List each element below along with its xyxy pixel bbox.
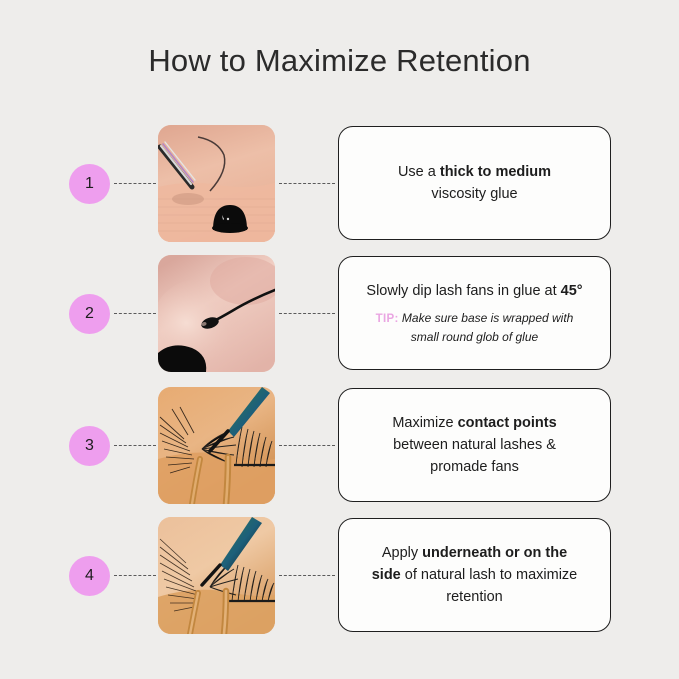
step-number-badge: 4 xyxy=(69,556,110,596)
lash-fan-dipped-in-glue-icon xyxy=(158,255,275,372)
card-tip-line: small round glob of glue xyxy=(376,328,574,346)
step-text-card: Apply underneath or on the side of natur… xyxy=(338,518,611,632)
step-number-label: 3 xyxy=(85,437,94,455)
card-line: promade fans xyxy=(430,456,519,478)
card-line: viscosity glue xyxy=(431,183,517,205)
tip-text: Make sure base is wrapped with xyxy=(402,311,573,325)
step-text-card: Maximize contact points between natural … xyxy=(338,388,611,502)
connector-dashed-right xyxy=(279,575,335,576)
connector-dashed-left xyxy=(114,313,156,314)
card-line: Use a thick to medium xyxy=(398,161,551,183)
step-photo xyxy=(158,125,275,242)
connector-dashed-right xyxy=(279,445,335,446)
card-line: Apply underneath or on the xyxy=(382,542,567,564)
connector-dashed-left xyxy=(114,445,156,446)
card-line: Maximize contact points xyxy=(392,412,556,434)
step-photo xyxy=(158,387,275,504)
card-line: retention xyxy=(446,586,502,608)
connector-dashed-left xyxy=(114,183,156,184)
step-number-badge: 3 xyxy=(69,426,110,466)
step-number-badge: 1 xyxy=(69,164,110,204)
step-row: 2 xyxy=(0,255,679,373)
tip-label: TIP: xyxy=(376,313,399,325)
step-number-label: 4 xyxy=(85,567,94,585)
card-line: between natural lashes & xyxy=(393,434,556,456)
step-number-label: 1 xyxy=(85,175,94,193)
infographic-root: How to Maximize Retention 1 xyxy=(0,0,679,679)
step-photo xyxy=(158,255,275,372)
tweezers-holding-lash-with-glue-drop-icon xyxy=(158,125,275,242)
connector-dashed-right xyxy=(279,313,335,314)
lash-extensions-contact-points-icon xyxy=(158,387,275,504)
page-title: How to Maximize Retention xyxy=(0,43,679,79)
step-row: 1 xyxy=(0,125,679,243)
card-line: side of natural lash to maximize xyxy=(372,564,578,586)
lash-applied-underneath-natural-lash-icon xyxy=(158,517,275,634)
card-tip: TIP: Make sure base is wrapped with smal… xyxy=(376,309,574,346)
card-tip-line: TIP: Make sure base is wrapped with xyxy=(376,309,574,328)
step-row: 3 xyxy=(0,387,679,505)
step-row: 4 xyxy=(0,517,679,635)
connector-dashed-right xyxy=(279,183,335,184)
connector-dashed-left xyxy=(114,575,156,576)
step-text-card: Use a thick to medium viscosity glue xyxy=(338,126,611,240)
step-text-card: Slowly dip lash fans in glue at 45° TIP:… xyxy=(338,256,611,370)
step-number-label: 2 xyxy=(85,305,94,323)
card-line: Slowly dip lash fans in glue at 45° xyxy=(366,280,582,302)
step-number-badge: 2 xyxy=(69,294,110,334)
step-photo xyxy=(158,517,275,634)
